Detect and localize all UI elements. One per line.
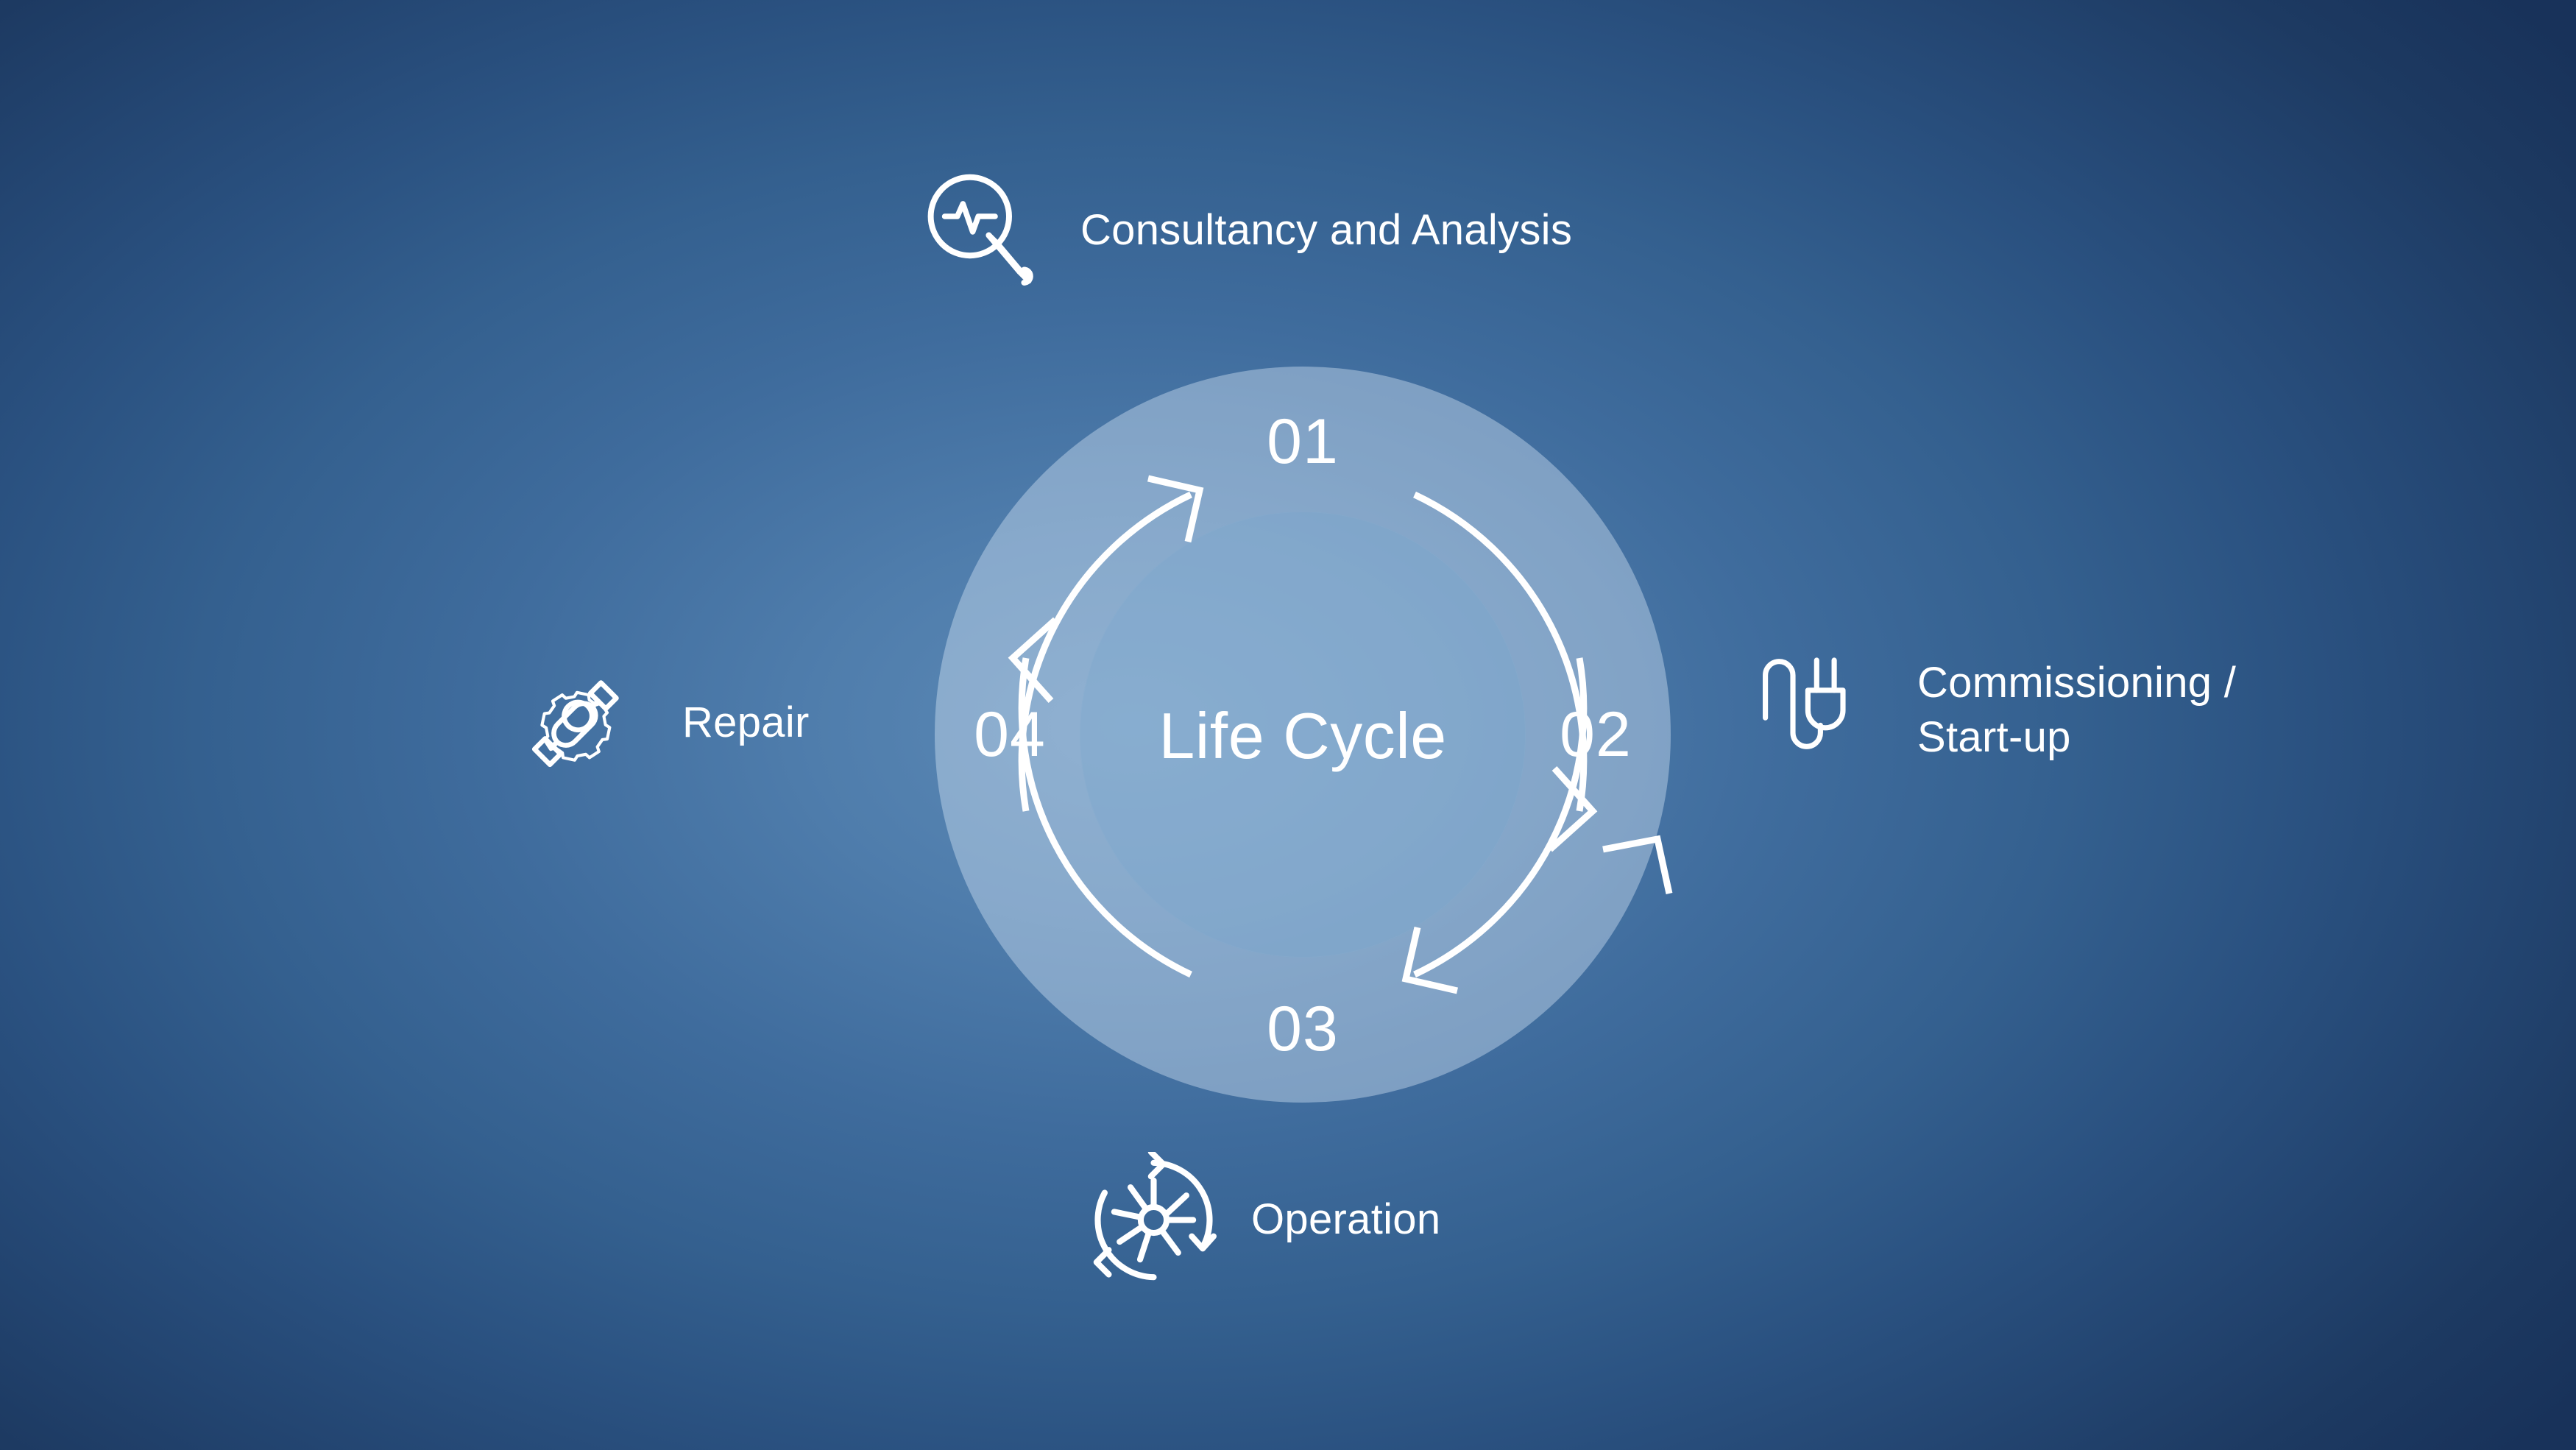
life-cycle-diagram: 01 02 03 04 Life Cycle Consultancy and A… bbox=[0, 0, 2576, 1450]
step-label-commissioning: Commissioning / Start-up bbox=[1917, 656, 2236, 765]
cycle-impeller-icon bbox=[1086, 1152, 1222, 1288]
step-label-operation: Operation bbox=[1251, 1192, 1440, 1247]
step-label-consultancy: Consultancy and Analysis bbox=[1080, 203, 1572, 258]
power-plug-icon bbox=[1755, 648, 1880, 773]
magnifier-pulse-icon bbox=[911, 160, 1051, 300]
arrow-01-to-02 bbox=[1415, 495, 1669, 894]
wrench-gear-icon bbox=[508, 655, 644, 791]
step-label-repair: Repair bbox=[682, 696, 810, 750]
center-title: Life Cycle bbox=[1158, 699, 1446, 774]
step-number-01: 01 bbox=[1267, 410, 1339, 473]
step-number-03: 03 bbox=[1267, 997, 1339, 1061]
step-number-04: 04 bbox=[974, 703, 1046, 766]
step-number-02: 02 bbox=[1560, 703, 1632, 766]
step-node-operation: Operation bbox=[1086, 1152, 1440, 1288]
arrow-03-to-04 bbox=[1013, 620, 1191, 975]
step-node-consultancy: Consultancy and Analysis bbox=[911, 160, 1572, 300]
step-node-repair: Repair bbox=[508, 655, 810, 791]
step-node-commissioning: Commissioning / Start-up bbox=[1755, 648, 2236, 773]
